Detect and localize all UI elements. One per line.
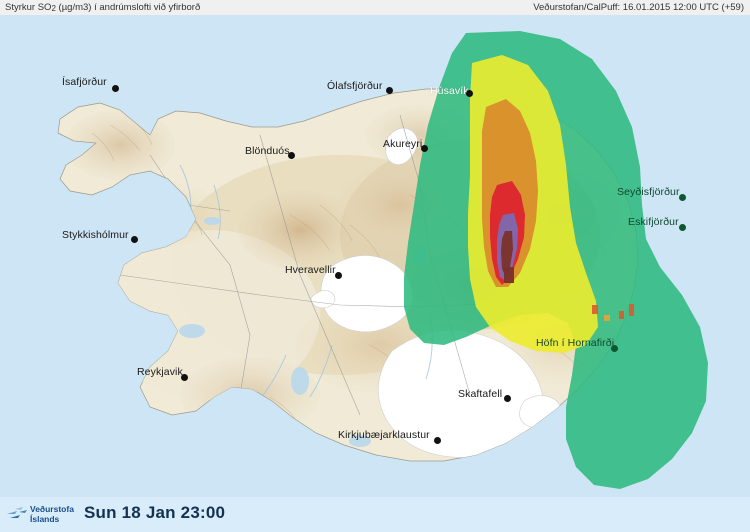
place-label: Blönduós — [245, 145, 290, 157]
place-label: Seyðisfjörður — [617, 186, 680, 198]
wind-arrow-icon — [6, 506, 28, 524]
place-label: Eskifjörður — [628, 216, 679, 228]
place-label: Hveravellir — [285, 264, 336, 276]
screenshot-root: Styrkur SO2 (µg/m3) í andrúmslofti við y… — [0, 0, 750, 532]
place-marker-dot — [112, 85, 119, 92]
place-marker-dot — [181, 374, 188, 381]
header-title-suffix: (µg/m3) í andrúmslofti við yfirborð — [56, 2, 200, 13]
logo-line-1: Veðurstofa — [30, 504, 74, 514]
logo-line-2: Íslands — [30, 514, 74, 524]
place-label: Ólafsfjörður — [327, 80, 382, 92]
place-label: Ísafjörður — [62, 76, 107, 88]
place-marker-dot — [288, 152, 295, 159]
forecast-timestamp: Sun 18 Jan 23:00 — [84, 503, 225, 523]
vedurstofa-logo: Veðurstofa Íslands — [6, 504, 80, 526]
place-marker-dot — [504, 395, 511, 402]
footer-bar: Veðurstofa Íslands Sun 18 Jan 23:00 1003… — [0, 497, 750, 532]
place-label: Reykjavik — [137, 366, 183, 378]
place-marker-dot — [679, 224, 686, 231]
place-label: Kirkjubæjarklaustur — [338, 429, 430, 441]
place-marker-dot — [434, 437, 441, 444]
place-label: Stykkishólmur — [62, 229, 129, 241]
header-title: Styrkur SO2 (µg/m3) í andrúmslofti við y… — [5, 0, 200, 16]
place-marker-dot — [421, 145, 428, 152]
place-label: Skaftafell — [458, 388, 502, 400]
place-marker-dot — [679, 194, 686, 201]
header-title-prefix: Styrkur SO — [5, 2, 51, 13]
place-label: Akureyri — [383, 138, 422, 150]
place-marker-dot — [335, 272, 342, 279]
place-marker-dot — [386, 87, 393, 94]
logo-text: Veðurstofa Íslands — [30, 504, 74, 524]
place-marker-dot — [131, 236, 138, 243]
place-label: Húsavík — [430, 85, 469, 97]
header-source-stamp: Veðurstofan/CalPuff: 16.01.2015 12:00 UT… — [533, 0, 744, 15]
map-canvas[interactable]: ÍsafjörðurÓlafsfjörðurHúsavíkBlönduósAku… — [0, 15, 750, 497]
place-marker-dot — [611, 345, 618, 352]
place-label: Höfn í Hornafirði — [536, 337, 614, 349]
header-bar: Styrkur SO2 (µg/m3) í andrúmslofti við y… — [0, 0, 750, 16]
place-marker-dot — [466, 90, 473, 97]
